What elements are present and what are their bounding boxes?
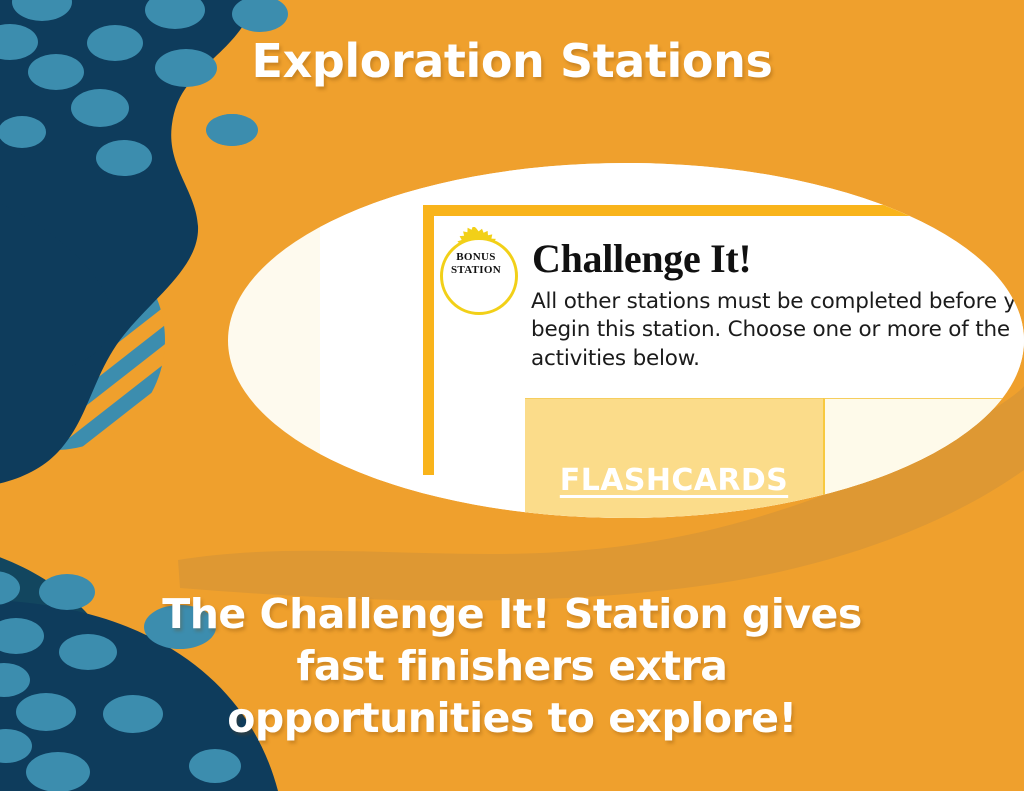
instruction-line-1: All other stations must be completed bef… — [531, 288, 1024, 316]
badge-line-1: BONUS — [440, 251, 512, 264]
caption-line-2: fast finishers extra — [0, 640, 1024, 692]
instruction-line-3: activities below. — [531, 345, 1024, 373]
badge-line-2: STATION — [440, 264, 512, 277]
activity-cell-flashcards[interactable]: FLASHCARDS — [525, 398, 823, 518]
worksheet-title: Challenge It! — [532, 235, 751, 282]
screenshot-oval: Challenge It! All other stations must be… — [228, 163, 1024, 518]
activity-cell-graph[interactable]: GRAPH — [823, 398, 1024, 518]
navy-wedge-mid — [0, 180, 112, 372]
graph-link[interactable]: GRAPH — [825, 463, 1024, 498]
worksheet-frame-left-bar — [423, 205, 434, 475]
badge-text: BONUS STATION — [440, 251, 512, 277]
page-title: Exploration Stations — [0, 34, 1024, 88]
activity-link-row: FLASHCARDS GRAPH — [525, 398, 1024, 518]
oval-clip: Challenge It! All other stations must be… — [228, 163, 1024, 518]
slide-root: Exploration Stations — [0, 0, 1024, 791]
striped-circle-decoration — [0, 165, 234, 551]
worksheet-instructions: All other stations must be completed bef… — [531, 288, 1024, 373]
flashcards-link[interactable]: FLASHCARDS — [525, 463, 823, 498]
instruction-line-2: begin this station. Choose one or more o… — [531, 316, 1024, 344]
caption-text: The Challenge It! Station gives fast fin… — [0, 588, 1024, 744]
teal-dot-cluster-top — [0, 0, 288, 176]
worksheet-frame-top-bar — [423, 205, 1024, 216]
caption-line-1: The Challenge It! Station gives — [0, 588, 1024, 640]
worksheet-page: Challenge It! All other stations must be… — [320, 163, 1024, 518]
caption-line-3: opportunities to explore! — [0, 692, 1024, 744]
